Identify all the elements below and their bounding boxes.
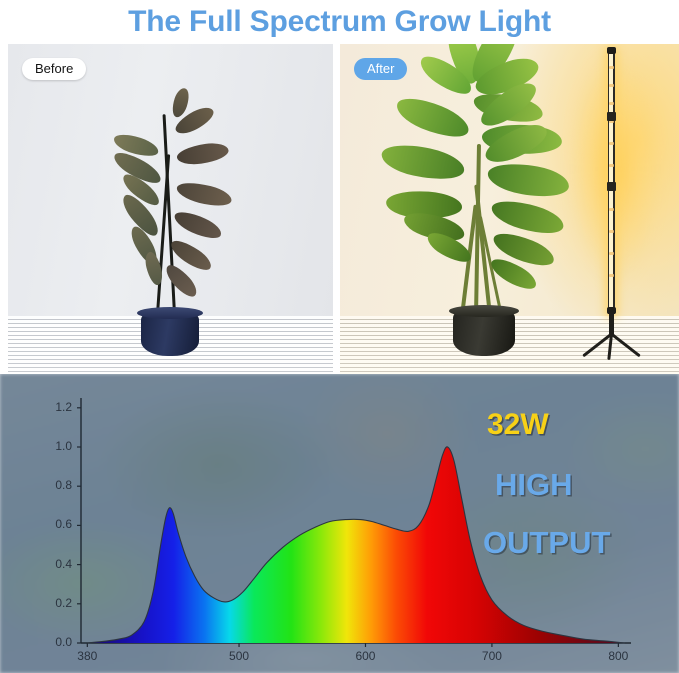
plant-leaf: [392, 91, 473, 145]
before-after-comparison: Before: [0, 44, 679, 374]
after-pot: [453, 310, 515, 356]
product-infographic: The Full Spectrum Grow Light: [0, 0, 679, 673]
chart-plot: [0, 374, 679, 673]
after-plant: [340, 44, 679, 344]
y-axis-tick-label: 0.4: [44, 558, 72, 571]
before-pot: [141, 312, 199, 356]
led-diode: [609, 66, 614, 69]
page-title: The Full Spectrum Grow Light: [128, 5, 551, 39]
led-diode: [609, 208, 614, 211]
wattage-badge: 32W: [487, 408, 549, 442]
x-axis-tick-label: 380: [67, 650, 107, 663]
led-diode: [609, 164, 614, 167]
high-text: HIGH: [495, 467, 573, 502]
y-axis-tick-label: 0.6: [44, 518, 72, 531]
led-diode: [609, 102, 614, 105]
pot-rim: [449, 305, 520, 317]
header-bar: The Full Spectrum Grow Light: [0, 0, 679, 44]
lamp-top-cap: [607, 47, 616, 54]
x-axis-tick-label: 600: [345, 650, 385, 663]
output-text: OUTPUT: [483, 525, 610, 560]
led-diode: [609, 274, 614, 277]
y-axis-tick-label: 1.0: [44, 440, 72, 453]
plant-leaf: [176, 141, 230, 167]
led-diode: [609, 252, 614, 255]
grow-light-bar: [608, 50, 615, 314]
y-axis-tick-label: 0.2: [44, 597, 72, 610]
x-axis-tick-label: 500: [219, 650, 259, 663]
before-label: Before: [22, 58, 86, 80]
pot-rim: [137, 307, 203, 319]
lamp-joint: [607, 182, 616, 191]
led-diode: [609, 230, 614, 233]
spectrum-chart: 0.00.20.40.60.81.01.2 380500600700800 32…: [0, 374, 679, 673]
plant-leaf: [175, 178, 234, 210]
y-axis-tick-label: 1.2: [44, 401, 72, 414]
lamp-joint: [607, 112, 616, 121]
plant-leaf: [485, 158, 571, 202]
after-panel: After: [340, 44, 679, 374]
after-label: After: [354, 58, 407, 80]
x-axis-tick-label: 800: [598, 650, 638, 663]
before-panel: Before: [8, 44, 333, 374]
x-axis-tick-label: 700: [472, 650, 512, 663]
led-diode: [609, 142, 614, 145]
plant-leaf: [379, 139, 467, 186]
y-axis-tick-label: 0.8: [44, 479, 72, 492]
led-diode: [609, 84, 614, 87]
plant-leaf: [171, 207, 224, 244]
y-axis-tick-label: 0.0: [44, 636, 72, 649]
before-plant: [8, 44, 333, 344]
